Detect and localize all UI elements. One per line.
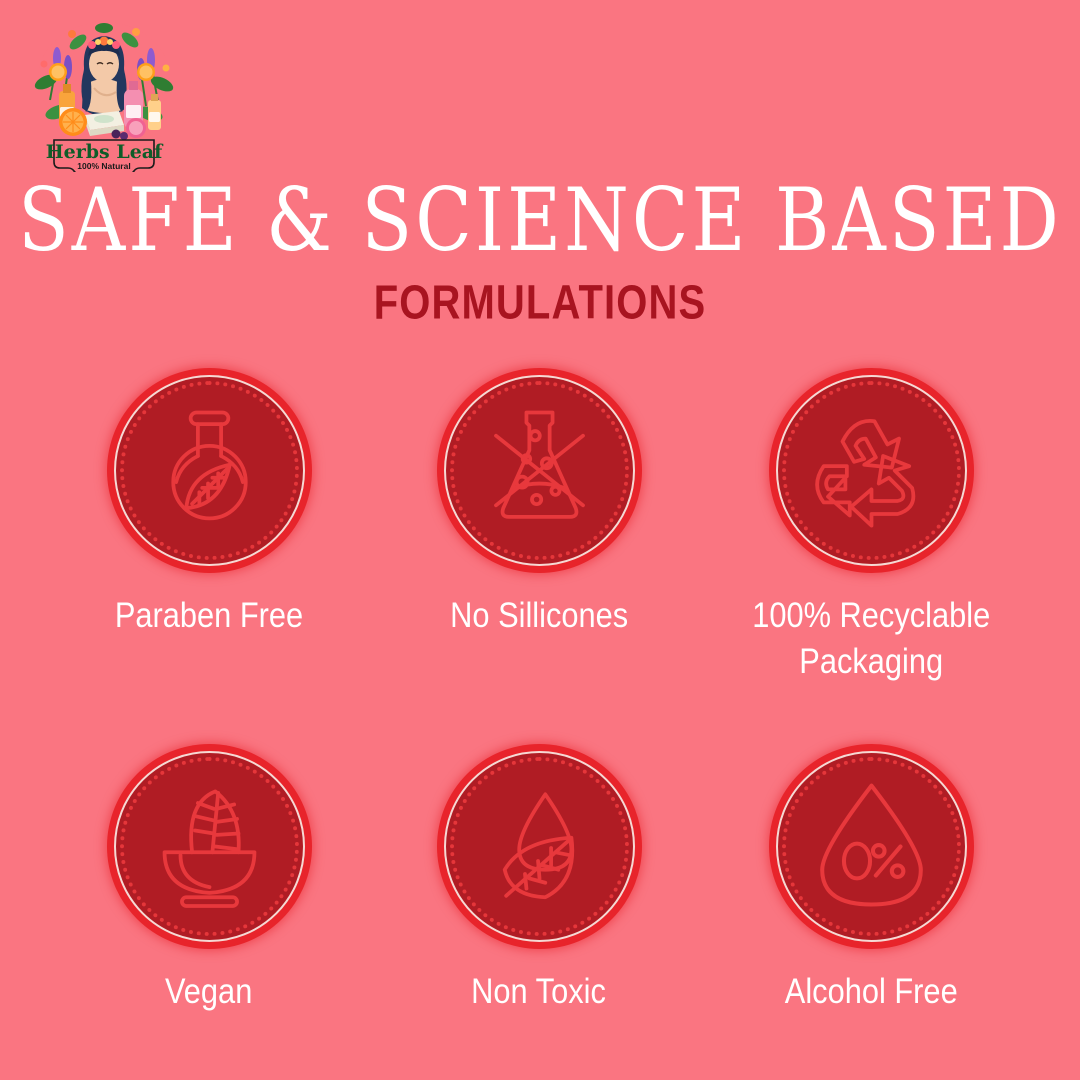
badge-no-sillicones[interactable]: No Sillicones [374, 368, 704, 698]
bowl-leaf-icon [137, 774, 282, 919]
badge-disc [769, 744, 974, 949]
badge-vegan[interactable]: Vegan [44, 744, 374, 1014]
promo-poster: Herbs Leaf 100% Natural SAFE & SCIENCE B… [0, 0, 1080, 1080]
badge-recyclable-packaging[interactable]: 100% Recyclable Packaging [706, 368, 1036, 698]
crossed-flask-icon [467, 398, 612, 543]
page-title: SAFE & SCIENCE BASED [0, 172, 1080, 269]
badge-label: 100% Recyclable Packaging [752, 593, 990, 685]
page-subtitle: FORMULATIONS [38, 277, 1042, 329]
badge-label: Alcohol Free [785, 969, 958, 1014]
badge-label: Vegan [165, 969, 252, 1014]
logo-brand-name: Herbs Leaf [46, 141, 164, 163]
badge-row-2: Vegan [0, 744, 1080, 1014]
recycle-icon [799, 398, 944, 543]
droplet-leaf-icon [467, 774, 612, 919]
droplet-zero-percent-icon [799, 774, 944, 919]
badge-disc [769, 368, 974, 573]
badge-row-1: Paraben Free [0, 368, 1080, 698]
logo-artwork: Herbs Leaf 100% Natural [28, 12, 180, 172]
badge-label: Non Toxic [472, 969, 607, 1014]
badge-grid: Paraben Free [0, 368, 1080, 1014]
flask-leaf-icon [137, 398, 282, 543]
badge-label: No Sillicones [450, 593, 628, 638]
herbs-leaf-logo: Herbs Leaf 100% Natural [28, 12, 180, 172]
badge-alcohol-free[interactable]: Alcohol Free [706, 744, 1036, 1014]
logo-woman-illustration [81, 36, 126, 116]
badge-disc [107, 368, 312, 573]
badge-disc [107, 744, 312, 949]
header-block: SAFE & SCIENCE BASED FORMULATIONS [0, 172, 1080, 326]
badge-label: Paraben Free [115, 593, 303, 638]
badge-non-toxic[interactable]: Non Toxic [374, 744, 704, 1014]
badge-disc [437, 744, 642, 949]
badge-paraben-free[interactable]: Paraben Free [44, 368, 374, 698]
badge-disc [437, 368, 642, 573]
